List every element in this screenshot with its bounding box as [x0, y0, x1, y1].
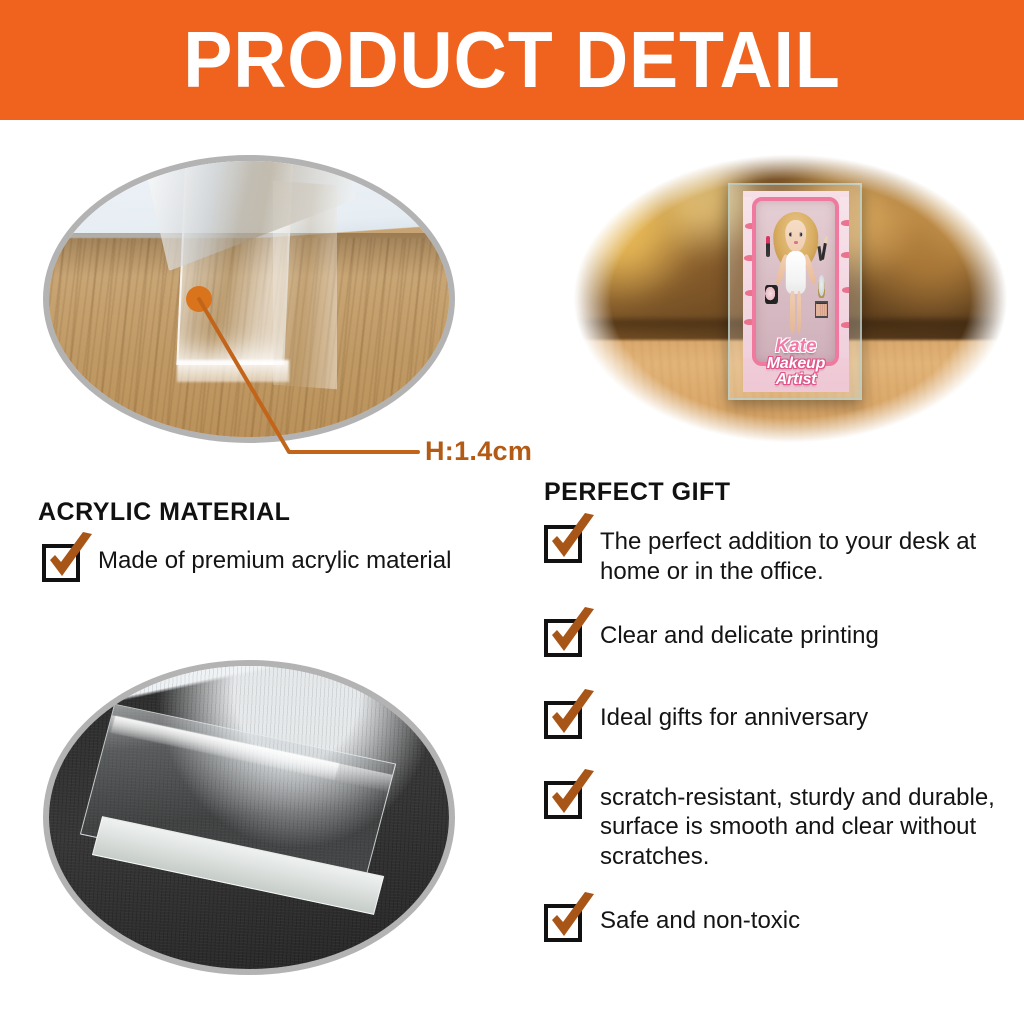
feature-text: Safe and non-toxic [600, 902, 800, 936]
feature-list-perfect-gift: The perfect addition to your desk at hom… [544, 523, 1014, 942]
doll-eye-right [799, 232, 802, 236]
feature-item: The perfect addition to your desk at hom… [544, 523, 1014, 587]
section-heading-perfect-gift: PERFECT GIFT [544, 478, 731, 507]
compact-powder-prop [765, 285, 778, 304]
doll-mouth [794, 241, 798, 244]
feature-text: Made of premium acrylic material [98, 542, 451, 576]
feature-text: scratch-resistant, sturdy and durable, s… [600, 779, 1014, 872]
checkmark-icon [544, 904, 582, 942]
product-box-photo: Kate Makeup Artist [567, 150, 1014, 447]
feature-item: Ideal gifts for anniversary [544, 699, 1014, 739]
feature-text: Ideal gifts for anniversary [600, 699, 868, 733]
doll-leg-left [790, 291, 795, 333]
doll-leg-right [797, 291, 802, 333]
thickness-callout-dot [186, 286, 212, 312]
feature-text: The perfect addition to your desk at hom… [600, 523, 1014, 587]
package-right-strip [840, 197, 849, 358]
feature-item: scratch-resistant, sturdy and durable, s… [544, 779, 1014, 872]
doll-eye-left [789, 232, 792, 236]
dimension-label: H:1.4cm [425, 436, 532, 467]
doll-dress [786, 251, 806, 294]
package-title-name: Kate [747, 337, 845, 356]
feature-item: Safe and non-toxic [544, 902, 1014, 942]
package-title: Kate Makeup Artist [747, 337, 845, 388]
page-title: PRODUCT DETAIL [41, 0, 983, 120]
acrylic-block-photo [43, 660, 455, 975]
checkmark-icon [544, 619, 582, 657]
checkmark-icon [544, 781, 582, 819]
checkmark-icon [544, 701, 582, 739]
checkmark-icon [544, 525, 582, 563]
doll-head [780, 216, 811, 255]
package-left-strip [743, 197, 752, 358]
feature-item: Clear and delicate printing [544, 617, 1014, 657]
doll-package: Kate Makeup Artist [743, 191, 849, 392]
feature-text: Clear and delicate printing [600, 617, 879, 651]
lipstick-prop [766, 236, 770, 257]
package-title-subtitle: Makeup Artist [747, 356, 845, 388]
section-heading-acrylic-material: ACRYLIC MATERIAL [38, 498, 290, 527]
acrylic-slab-base-highlight [177, 360, 289, 382]
acrylic-edge-photo [43, 155, 455, 443]
feature-item: Made of premium acrylic material [42, 542, 512, 582]
feature-list-acrylic-material: Made of premium acrylic material [42, 542, 512, 582]
acrylic-display-case: Kate Makeup Artist [728, 183, 862, 401]
eyeshadow-palette-prop [815, 301, 828, 319]
hand-mirror-prop [818, 275, 825, 298]
checkmark-icon [42, 544, 80, 582]
